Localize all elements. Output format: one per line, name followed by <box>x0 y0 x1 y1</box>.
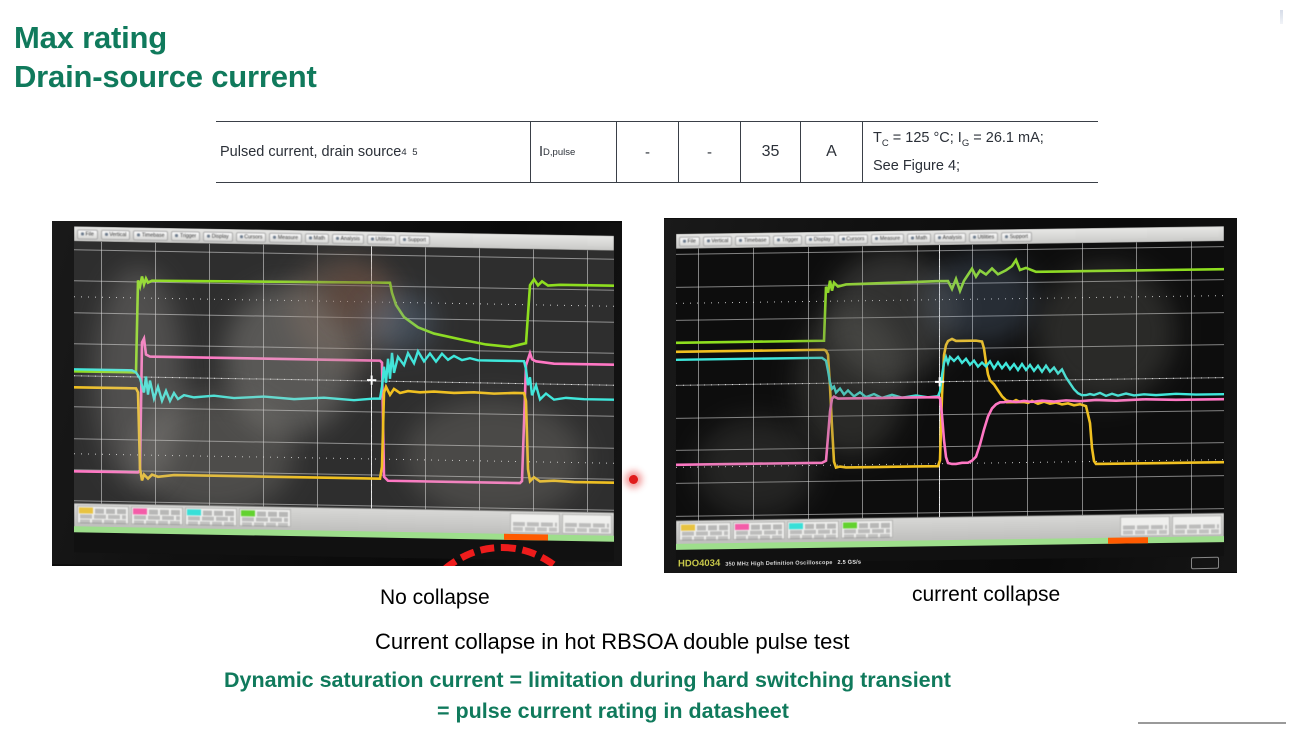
note-tc-value: = 125 °C; I <box>889 130 962 146</box>
cell-parameter: Pulsed current, drain source4 5 <box>216 122 530 182</box>
toolbar-item-analysis[interactable]: Analysis <box>934 232 966 242</box>
toolbar-item-timebase[interactable]: Timebase <box>735 235 770 245</box>
timebase-descriptor-right[interactable] <box>1120 516 1170 537</box>
brand-model: HDO4034 <box>678 558 720 570</box>
timebase-descriptor-left[interactable] <box>510 513 560 534</box>
trigger-status-badge-left <box>504 534 548 541</box>
cell-unit: A <box>800 122 862 182</box>
unit-value: A <box>826 143 837 161</box>
toolbar-item-math[interactable]: Math <box>907 233 931 243</box>
trace-pink-right <box>676 391 1224 468</box>
toolbar-item-analysis[interactable]: Analysis <box>332 233 364 244</box>
page-title: Max rating Drain-source current <box>14 18 317 96</box>
conclusion-line-1: Dynamic saturation current = limitation … <box>224 668 951 693</box>
channel-descriptor-c3[interactable] <box>185 507 237 526</box>
trigger-descriptor-right[interactable] <box>1172 515 1222 536</box>
cell-typ: - <box>678 122 740 182</box>
toolbar-item-support[interactable]: Support <box>1001 231 1032 241</box>
toolbar-item-utilities[interactable]: Utilities <box>367 234 396 245</box>
channel-descriptor-c2[interactable] <box>131 506 183 525</box>
parameter-text: Pulsed current, drain source <box>220 144 401 160</box>
caption-left-image: No collapse <box>380 586 490 610</box>
channel-descriptor-c3[interactable] <box>787 521 839 540</box>
toolbar-item-support[interactable]: Support <box>399 234 430 245</box>
channel-descriptor-c2[interactable] <box>733 521 785 540</box>
channel-descriptor-c1[interactable] <box>679 522 731 541</box>
cursor-crosshair-right: ✛ <box>935 376 945 388</box>
toolbar-item-cursors[interactable]: Cursors <box>838 234 869 244</box>
caption-main: Current collapse in hot RBSOA double pul… <box>375 629 850 655</box>
note-line-1: TC = 125 °C; IG = 26.1 mA; <box>873 129 1044 153</box>
title-line-2: Drain-source current <box>14 57 317 96</box>
waveform-traces-right <box>676 241 1224 521</box>
cell-symbol: ID,pulse <box>530 122 616 182</box>
toolbar-item-file[interactable]: File <box>679 236 700 246</box>
trace-pink-left <box>74 337 614 484</box>
toolbar-item-cursors[interactable]: Cursors <box>236 232 267 243</box>
toolbar-item-math[interactable]: Math <box>305 233 329 243</box>
channel-descriptor-c4[interactable] <box>841 520 893 539</box>
scope-screen-right: File Vertical Timebase Trigger Display C… <box>676 226 1224 564</box>
channel-descriptor-c4[interactable] <box>239 508 291 527</box>
note-line-2: See Figure 4; <box>873 157 1044 175</box>
channel-descriptor-c1[interactable] <box>77 505 129 524</box>
bottom-rule-divider <box>1138 722 1286 724</box>
symbol-subscript: D,pulse <box>543 147 575 158</box>
scope-screen-left: File Vertical Timebase Trigger Display C… <box>74 226 614 561</box>
scope-graticule-right: ✛ <box>676 241 1224 521</box>
title-line-1: Max rating <box>14 18 317 57</box>
trace-cyan-left <box>74 345 614 408</box>
cell-min: - <box>616 122 678 182</box>
toolbar-item-display[interactable]: Display <box>805 234 835 244</box>
slide-root: Max rating Drain-source current Pulsed c… <box>0 0 1291 730</box>
scope-graticule-left: ✛ <box>74 241 614 512</box>
datasheet-table: Pulsed current, drain source4 5 ID,pulse… <box>216 121 1098 183</box>
oscilloscope-photo-left: File Vertical Timebase Trigger Display C… <box>52 221 622 566</box>
toolbar-item-utilities[interactable]: Utilities <box>969 232 998 242</box>
trace-green-left <box>74 271 614 380</box>
toolbar-item-file[interactable]: File <box>77 229 98 239</box>
caption-right-image: current collapse <box>912 583 1060 607</box>
toolbar-item-measure[interactable]: Measure <box>269 232 302 243</box>
trace-green-right <box>676 257 1224 343</box>
typ-value: - <box>707 144 712 161</box>
toolbar-item-display[interactable]: Display <box>203 231 233 242</box>
table-row: Pulsed current, drain source4 5 ID,pulse… <box>216 122 1098 182</box>
note-tc-symbol: T <box>873 130 882 146</box>
toolbar-item-timebase[interactable]: Timebase <box>133 230 168 241</box>
max-value: 35 <box>762 143 780 161</box>
waveform-traces-left <box>74 241 614 512</box>
trigger-descriptor-left[interactable] <box>562 514 612 535</box>
toolbar-item-vertical[interactable]: Vertical <box>703 236 733 246</box>
trigger-status-badge-right <box>1108 537 1148 544</box>
note-tc-sub: C <box>882 137 889 148</box>
parameter-footnotes: 4 5 <box>401 147 419 158</box>
brand-description: 350 MHz High Definition Oscilloscope <box>725 560 832 568</box>
cell-note: TC = 125 °C; IG = 26.1 mA; See Figure 4; <box>862 122 1098 182</box>
min-value: - <box>645 144 650 161</box>
conclusion-line-2: = pulse current rating in datasheet <box>437 699 789 724</box>
corner-mark <box>1280 10 1283 24</box>
red-marker-dot-icon <box>629 475 638 484</box>
note-ig-value: = 26.1 mA; <box>969 130 1044 146</box>
trace-cyan-right <box>676 352 1224 402</box>
toolbar-item-vertical[interactable]: Vertical <box>101 229 131 240</box>
cursor-crosshair-left: ✛ <box>367 375 377 387</box>
toolbar-item-measure[interactable]: Measure <box>871 233 904 243</box>
cell-max: 35 <box>740 122 800 182</box>
toolbar-item-trigger[interactable]: Trigger <box>773 235 802 245</box>
toolbar-item-trigger[interactable]: Trigger <box>171 230 200 241</box>
oscilloscope-photo-right: File Vertical Timebase Trigger Display C… <box>664 218 1237 573</box>
lecroy-logo-icon <box>1191 557 1219 569</box>
brand-sample-rate: 2.5 GS/s <box>838 560 862 566</box>
